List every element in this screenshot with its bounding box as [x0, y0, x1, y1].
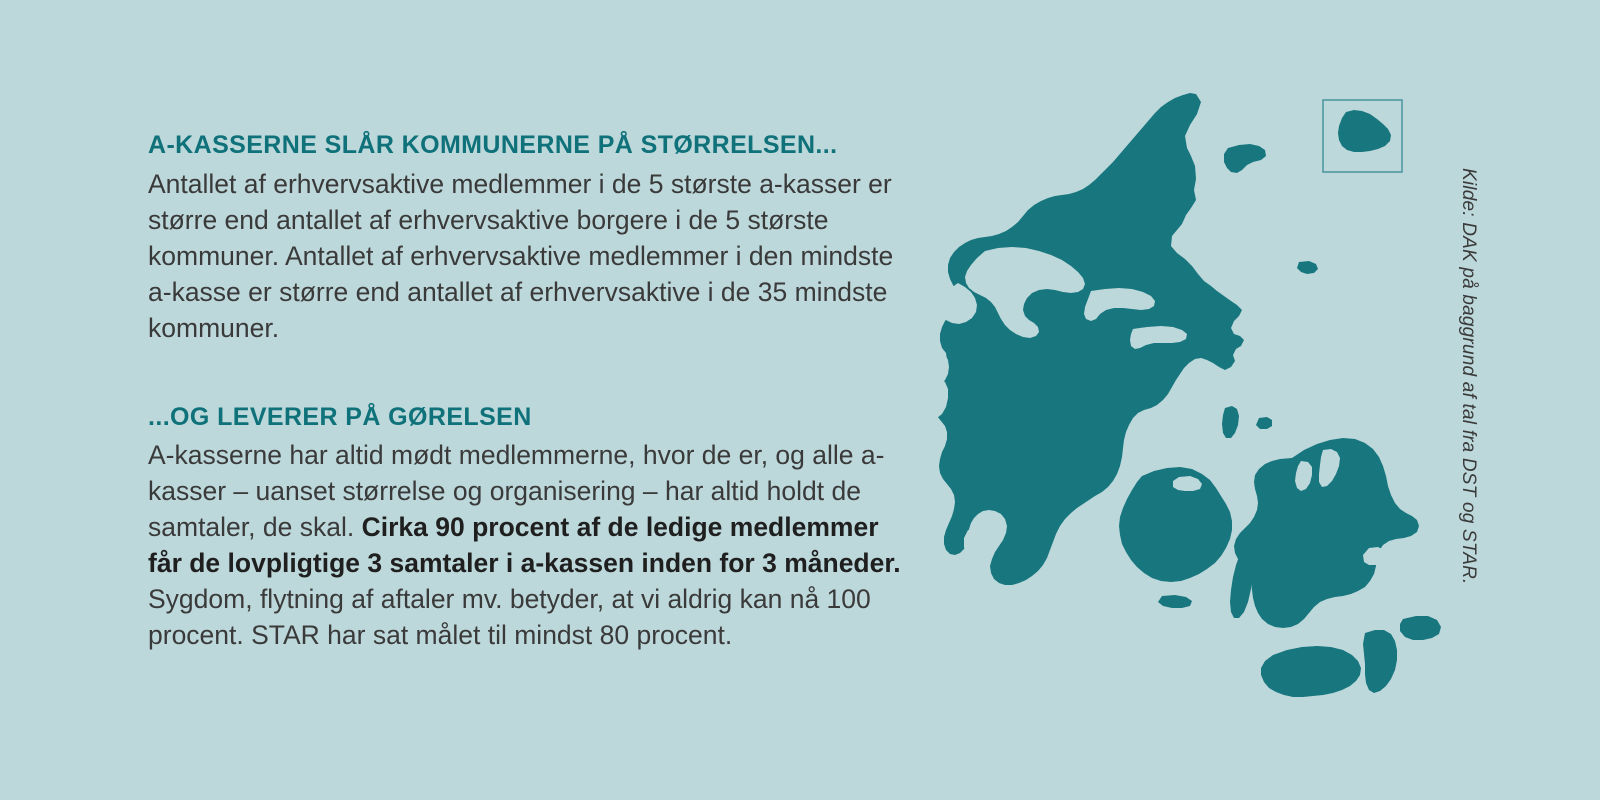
map-island-samso	[1222, 406, 1239, 438]
text-block-1: A-KASSERNE SLÅR KOMMUNERNE PÅ STØRRELSEN…	[148, 132, 908, 346]
map-island-laeso	[1224, 144, 1266, 173]
infographic-canvas: A-KASSERNE SLÅR KOMMUNERNE PÅ STØRRELSEN…	[0, 0, 1600, 800]
map-water-inlet-sw	[964, 530, 982, 557]
map-island-bornholm	[1338, 110, 1391, 152]
map-region-falster	[1363, 630, 1397, 693]
map-region-lolland	[1261, 646, 1361, 697]
block-1-body: Antallet af erhvervsaktive medlemmer i d…	[148, 166, 908, 346]
block-2-body-tail: Sygdom, flytning af aftaler mv. betyder,…	[148, 584, 871, 650]
block-1-heading: A-KASSERNE SLÅR KOMMUNERNE PÅ STØRRELSEN…	[148, 132, 908, 160]
map-island-anholt	[1297, 261, 1318, 274]
map-region-mon	[1400, 616, 1441, 640]
block-2-heading: ...OG LEVERER PÅ GØRELSEN	[148, 404, 908, 432]
text-block-2: ...OG LEVERER PÅ GØRELSEN A-kasserne har…	[148, 404, 908, 654]
text-column: A-KASSERNE SLÅR KOMMUNERNE PÅ STØRRELSEN…	[148, 132, 908, 653]
block-2-body: A-kasserne har altid mødt medlemmerne, h…	[148, 437, 908, 653]
map-island-aero	[1158, 595, 1192, 608]
denmark-map	[895, 78, 1465, 708]
map-island-orso	[1256, 417, 1272, 429]
denmark-map-svg	[895, 78, 1465, 708]
